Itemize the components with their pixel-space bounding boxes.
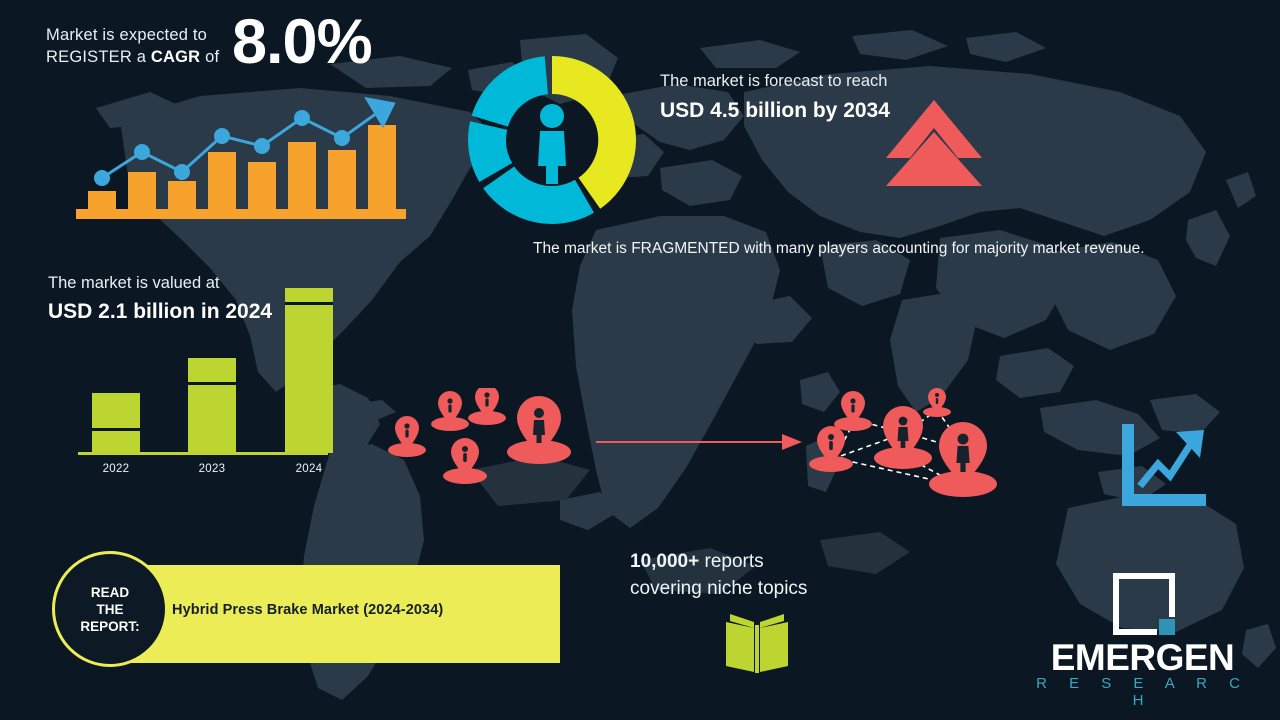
bar-2022-separator [92,428,140,431]
bar-label-2024: 2024 [277,463,341,475]
bar-2023-separator [188,382,236,385]
cta-line3: REPORT: [80,619,139,634]
cagr-caption-bold: CAGR [151,48,200,66]
person-in-donut-icon [462,52,642,228]
cagr-value: 8.0% [232,6,372,78]
cagr-caption-line2: REGISTER a CAGR of [46,46,219,68]
bar-label-2023: 2023 [180,463,244,475]
growth-chart-icon [62,88,412,224]
open-book-icon [722,612,792,674]
map-pin-cluster-icon [385,388,580,493]
bar-2022 [92,393,140,453]
reports-count-block: 10,000+ reports covering niche topics [630,548,807,602]
reports-count-line1: 10,000+ reports [630,548,807,575]
cagr-caption-pre: REGISTER a [46,48,151,66]
forecast-caption: The market is forecast to reach [660,70,900,92]
reports-count-number: 10,000+ [630,551,699,572]
reports-count-word: reports [699,551,763,572]
logo-subtitle: R E S E A R C H [1020,675,1265,709]
cagr-caption-post: of [200,48,219,66]
bar-2023 [188,358,236,453]
bar-2024 [285,288,333,453]
fragmented-note: The market is FRAGMENTED with many playe… [533,237,1223,260]
cta-line2: THE [96,602,123,617]
cta-line1: READ [91,585,129,600]
forecast-block: The market is forecast to reach USD 4.5 … [660,70,900,124]
reports-count-line2: covering niche topics [630,575,807,602]
square-outline-icon [1113,573,1175,635]
forecast-value: USD 4.5 billion by 2034 [660,97,900,124]
bar-label-2022: 2022 [84,463,148,475]
infographic-canvas: Market is expected to REGISTER a CAGR of… [0,0,1280,720]
cagr-caption: Market is expected to REGISTER a CAGR of [46,24,219,68]
cagr-caption-line1: Market is expected to [46,24,219,46]
report-title[interactable]: Hybrid Press Brake Market (2024-2034) [172,602,552,618]
logo-wordmark: EMERGEN [1020,637,1265,679]
market-value-bar-chart: 2022 2023 2024 [78,290,348,475]
right-arrow-icon [596,432,802,452]
emergen-research-logo: EMERGEN R E S E A R C H [1020,575,1265,705]
line-chart-up-icon [1118,424,1208,512]
read-the-report-label: READ THE REPORT: [80,584,139,635]
bar-2024-separator [285,302,333,305]
connected-map-pin-cluster-icon [805,388,1015,503]
double-chevron-up-icon [884,96,984,188]
read-the-report-button[interactable]: READ THE REPORT: [52,551,168,667]
